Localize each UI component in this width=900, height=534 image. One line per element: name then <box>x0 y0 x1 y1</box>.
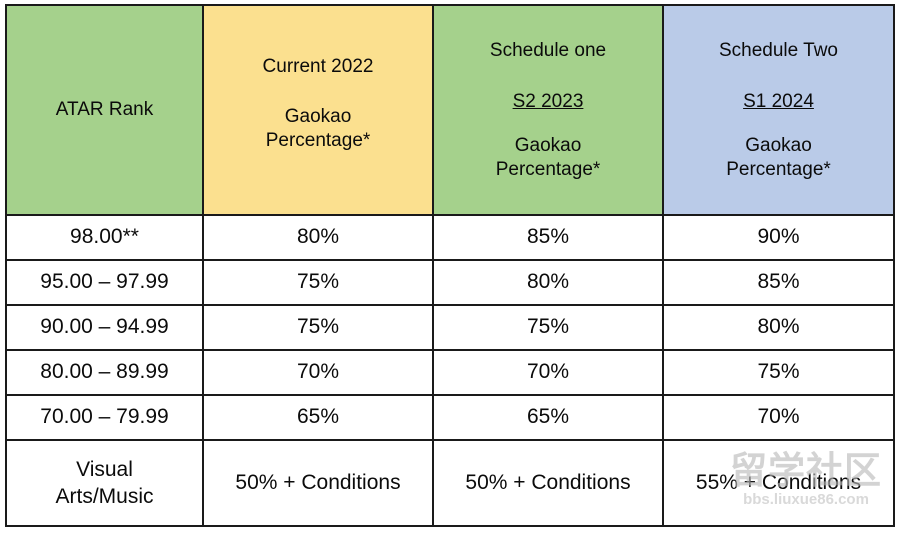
table-row: 70.00 – 79.99 65% 65% 70% <box>6 395 894 440</box>
table-row: Visual Arts/Music 50% + Conditions 50% +… <box>6 440 894 526</box>
column-header-schedule-one: Schedule one S2 2023 Gaokao Percentage* <box>433 5 663 215</box>
cell-schedule-one: 70% <box>433 350 663 395</box>
header-line-current-title: Current 2022 <box>204 55 432 79</box>
cell-atar-rank: Visual Arts/Music <box>6 440 203 526</box>
table-row: 90.00 – 94.99 75% 75% 80% <box>6 305 894 350</box>
cell-schedule-one: 65% <box>433 395 663 440</box>
header-line-schedule-two-term: S1 2024 <box>664 90 893 114</box>
table-row: 98.00** 80% 85% 90% <box>6 215 894 260</box>
header-line-atar-title: ATAR Rank <box>7 98 202 122</box>
column-header-schedule-two: Schedule Two S1 2024 Gaokao Percentage* <box>663 5 894 215</box>
cell-schedule-two: 85% <box>663 260 894 305</box>
header-stack-schedule-two: Schedule Two S1 2024 Gaokao Percentage* <box>664 37 893 182</box>
table-row: 95.00 – 97.99 75% 80% 85% <box>6 260 894 305</box>
cell-schedule-two: 75% <box>663 350 894 395</box>
table-page: ATAR Rank Current 2022 Gaokao Percentage… <box>0 0 900 534</box>
header-spacer <box>434 114 662 134</box>
header-line-schedule-two-title: Schedule Two <box>664 39 893 63</box>
header-row: ATAR Rank Current 2022 Gaokao Percentage… <box>6 5 894 215</box>
header-spacer <box>204 79 432 105</box>
header-spacer <box>664 64 893 90</box>
header-spacer <box>664 114 893 134</box>
cell-atar-rank: 90.00 – 94.99 <box>6 305 203 350</box>
table-row: 80.00 – 89.99 70% 70% 75% <box>6 350 894 395</box>
cell-current-2022: 75% <box>203 305 433 350</box>
column-header-current-2022: Current 2022 Gaokao Percentage* <box>203 5 433 215</box>
cell-current-2022: 70% <box>203 350 433 395</box>
cell-schedule-one: 50% + Conditions <box>433 440 663 526</box>
cell-schedule-one: 80% <box>433 260 663 305</box>
header-stack-atar: ATAR Rank <box>7 98 202 122</box>
header-line-current-percentage: Percentage* <box>204 129 432 153</box>
cell-schedule-two: 55% + Conditions <box>663 440 894 526</box>
cell-schedule-two: 80% <box>663 305 894 350</box>
cell-current-2022: 65% <box>203 395 433 440</box>
header-line-schedule-one-percentage: Percentage* <box>434 158 662 182</box>
atar-gaokao-table: ATAR Rank Current 2022 Gaokao Percentage… <box>5 4 895 527</box>
cell-atar-rank: 70.00 – 79.99 <box>6 395 203 440</box>
cell-schedule-one: 85% <box>433 215 663 260</box>
cell-schedule-two: 90% <box>663 215 894 260</box>
header-spacer <box>434 64 662 90</box>
cell-current-2022: 80% <box>203 215 433 260</box>
cell-schedule-two: 70% <box>663 395 894 440</box>
cell-schedule-one: 75% <box>433 305 663 350</box>
header-stack-schedule-one: Schedule one S2 2023 Gaokao Percentage* <box>434 37 662 182</box>
header-line-schedule-one-title: Schedule one <box>434 39 662 63</box>
table-body: 98.00** 80% 85% 90% 95.00 – 97.99 75% 80… <box>6 215 894 526</box>
cell-current-2022: 50% + Conditions <box>203 440 433 526</box>
header-line-schedule-one-term: S2 2023 <box>434 90 662 114</box>
cell-current-2022: 75% <box>203 260 433 305</box>
cell-atar-rank: 80.00 – 89.99 <box>6 350 203 395</box>
header-line-schedule-two-percentage: Percentage* <box>664 158 893 182</box>
cell-atar-rank: 98.00** <box>6 215 203 260</box>
header-line-current-gaokao: Gaokao <box>204 105 432 129</box>
cell-atar-rank: 95.00 – 97.99 <box>6 260 203 305</box>
header-line-schedule-two-gaokao: Gaokao <box>664 134 893 158</box>
column-header-atar-rank: ATAR Rank <box>6 5 203 215</box>
header-line-schedule-one-gaokao: Gaokao <box>434 134 662 158</box>
header-stack-current: Current 2022 Gaokao Percentage* <box>204 55 432 154</box>
table-header: ATAR Rank Current 2022 Gaokao Percentage… <box>6 5 894 215</box>
